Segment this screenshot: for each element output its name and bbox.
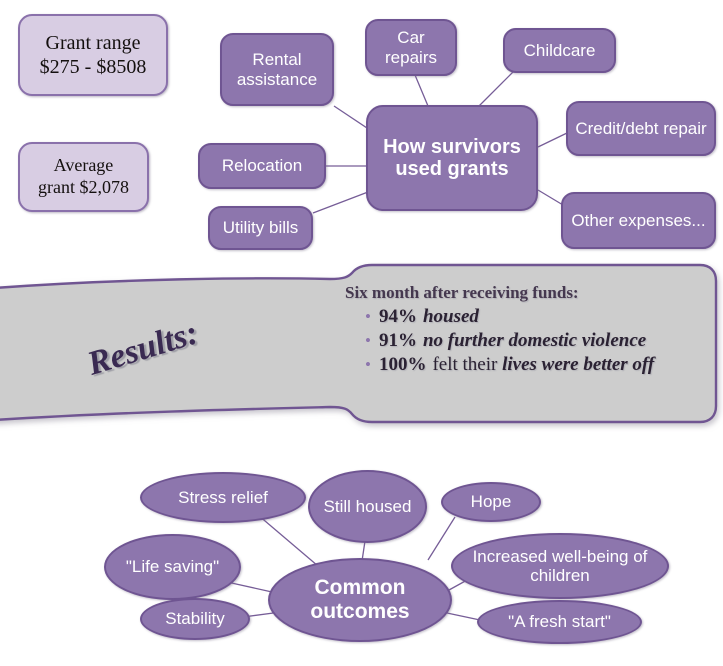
center-label-line2: outcomes bbox=[310, 600, 409, 624]
connector-life-saving bbox=[227, 582, 272, 592]
connector-childcare bbox=[478, 72, 513, 107]
node-label: Still housed bbox=[324, 497, 412, 516]
node-how-survivors-used-grants[interactable]: How survivors used grants bbox=[366, 105, 538, 211]
connector-fresh-start bbox=[447, 613, 480, 620]
grant-range-line1: Grant range bbox=[40, 31, 147, 55]
infographic-canvas: Grant range $275 - $8508 Average grant $… bbox=[0, 0, 723, 666]
result-text-emphasis: lives were better off bbox=[502, 354, 654, 375]
node-label: Stability bbox=[165, 609, 225, 628]
result-text-prefix: felt their bbox=[432, 354, 502, 375]
connector-stress-relief bbox=[258, 515, 318, 566]
node-label: Credit/debt repair bbox=[575, 119, 706, 138]
node-relocation[interactable]: Relocation bbox=[198, 143, 326, 189]
node-hope[interactable]: Hope bbox=[441, 482, 541, 522]
grant-range-line2: $275 - $8508 bbox=[40, 55, 147, 79]
results-content: Six month after receiving funds: • 94% h… bbox=[345, 283, 715, 378]
node-label: Other expenses... bbox=[571, 211, 705, 230]
node-common-outcomes[interactable]: Common outcomes bbox=[268, 558, 452, 642]
connector-utility-bills bbox=[313, 192, 368, 213]
node-label: Utility bills bbox=[223, 218, 299, 237]
node-label: "A fresh start" bbox=[508, 612, 611, 631]
connector-other-expenses bbox=[538, 190, 563, 205]
result-percent: 94% bbox=[379, 306, 417, 328]
connector-rental-assistance bbox=[334, 106, 370, 130]
node-still-housed[interactable]: Still housed bbox=[308, 470, 427, 543]
node-stress-relief[interactable]: Stress relief bbox=[140, 472, 306, 523]
node-label: Increased well-being of children bbox=[461, 547, 659, 585]
bullet-icon: • bbox=[365, 308, 371, 325]
node-label: Relocation bbox=[222, 156, 302, 175]
result-item: • 94% housed bbox=[345, 306, 715, 328]
node-label: Rental assistance bbox=[228, 50, 326, 88]
node-utility-bills[interactable]: Utility bills bbox=[208, 206, 313, 250]
bullet-icon: • bbox=[365, 356, 371, 373]
result-text: felt their lives were better off bbox=[432, 354, 654, 376]
bullet-icon: • bbox=[365, 332, 371, 349]
results-heading: Six month after receiving funds: bbox=[345, 283, 715, 303]
result-text: no further domestic violence bbox=[423, 330, 646, 352]
average-grant-line2: grant $2,078 bbox=[38, 177, 129, 199]
connector-hope bbox=[428, 517, 455, 560]
node-rental-assistance[interactable]: Rental assistance bbox=[220, 33, 334, 106]
average-grant-line1: Average bbox=[38, 155, 129, 177]
center-label-line1: How survivors bbox=[383, 136, 521, 158]
node-label: Childcare bbox=[524, 41, 596, 60]
result-percent: 91% bbox=[379, 330, 417, 352]
node-a-fresh-start[interactable]: "A fresh start" bbox=[477, 600, 642, 644]
result-percent: 100% bbox=[379, 354, 427, 376]
node-label: Hope bbox=[471, 492, 512, 511]
node-label: Stress relief bbox=[178, 488, 268, 507]
result-item: • 91% no further domestic violence bbox=[345, 330, 715, 352]
connector-credit-debt-repair bbox=[538, 133, 567, 147]
average-grant-callout: Average grant $2,078 bbox=[18, 142, 149, 212]
node-childcare[interactable]: Childcare bbox=[503, 28, 616, 73]
node-other-expenses[interactable]: Other expenses... bbox=[561, 192, 716, 249]
result-item: • 100% felt their lives were better off bbox=[345, 354, 715, 376]
node-label: Car repairs bbox=[373, 28, 449, 66]
node-stability[interactable]: Stability bbox=[140, 598, 250, 640]
node-life-saving[interactable]: "Life saving" bbox=[104, 534, 241, 600]
center-label-line2: used grants bbox=[383, 158, 521, 180]
node-label: "Life saving" bbox=[126, 557, 219, 576]
center-label-line1: Common bbox=[310, 576, 409, 600]
grant-range-callout: Grant range $275 - $8508 bbox=[18, 14, 168, 96]
node-car-repairs[interactable]: Car repairs bbox=[365, 19, 457, 76]
node-increased-wellbeing-of-children[interactable]: Increased well-being of children bbox=[451, 533, 669, 599]
node-credit-debt-repair[interactable]: Credit/debt repair bbox=[566, 101, 716, 156]
connector-car-repairs bbox=[415, 75, 428, 106]
result-text: housed bbox=[423, 306, 479, 328]
